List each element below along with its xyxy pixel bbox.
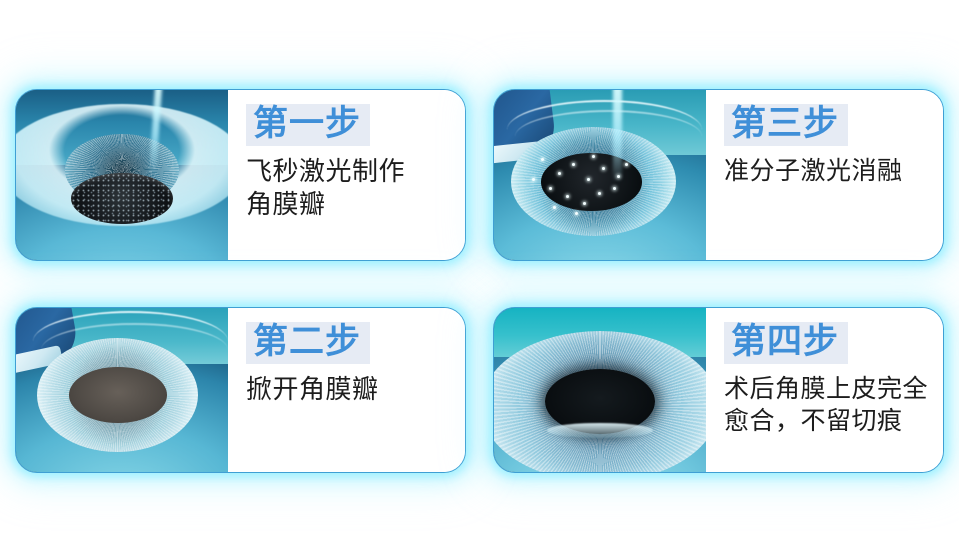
step-2-text: 第二步 掀开角膜瓣 xyxy=(228,308,465,472)
step-1-badge: 第一步 xyxy=(246,104,370,146)
healed-epithelium-highlight xyxy=(547,423,653,438)
step-3-badge: 第三步 xyxy=(724,104,848,146)
step-card-4[interactable]: 第四步 术后角膜上皮完全 愈合，不留切痕 xyxy=(493,307,944,473)
steps-board: 第一步 飞秒激光制作 角膜瓣 xyxy=(0,0,959,540)
step-3-image xyxy=(494,90,706,260)
step-4-description: 术后角膜上皮完全 愈合，不留切痕 xyxy=(724,373,931,438)
step-1-description: 飞秒激光制作 角膜瓣 xyxy=(246,155,453,222)
step-card-2[interactable]: 第二步 掀开角膜瓣 xyxy=(15,307,466,473)
step-1-image xyxy=(16,90,228,260)
excimer-laser-beam xyxy=(613,90,622,182)
cornea-flap-edge-2 xyxy=(515,110,702,163)
step-1-text: 第一步 飞秒激光制作 角膜瓣 xyxy=(228,90,465,260)
step-3-text: 第三步 准分子激光消融 xyxy=(706,90,943,260)
step-2-description: 掀开角膜瓣 xyxy=(246,373,453,406)
step-2-badge: 第二步 xyxy=(246,322,370,364)
bubble-layer xyxy=(71,173,173,224)
eye-illustration-flap-lift xyxy=(16,308,228,472)
eye-illustration-femtosecond-flap xyxy=(16,90,228,260)
lifted-flap-edge-2 xyxy=(41,323,228,377)
eye-illustration-healed-cornea xyxy=(494,308,706,472)
step-card-3[interactable]: 第三步 准分子激光消融 xyxy=(493,89,944,261)
step-2-image xyxy=(16,308,228,472)
step-card-1[interactable]: 第一步 飞秒激光制作 角膜瓣 xyxy=(15,89,466,261)
step-3-description: 准分子激光消融 xyxy=(724,155,931,187)
step-4-text: 第四步 术后角膜上皮完全 愈合，不留切痕 xyxy=(706,308,943,472)
step-4-image xyxy=(494,308,706,472)
eye-illustration-excimer-ablation xyxy=(494,90,706,260)
step-4-badge: 第四步 xyxy=(724,322,848,364)
